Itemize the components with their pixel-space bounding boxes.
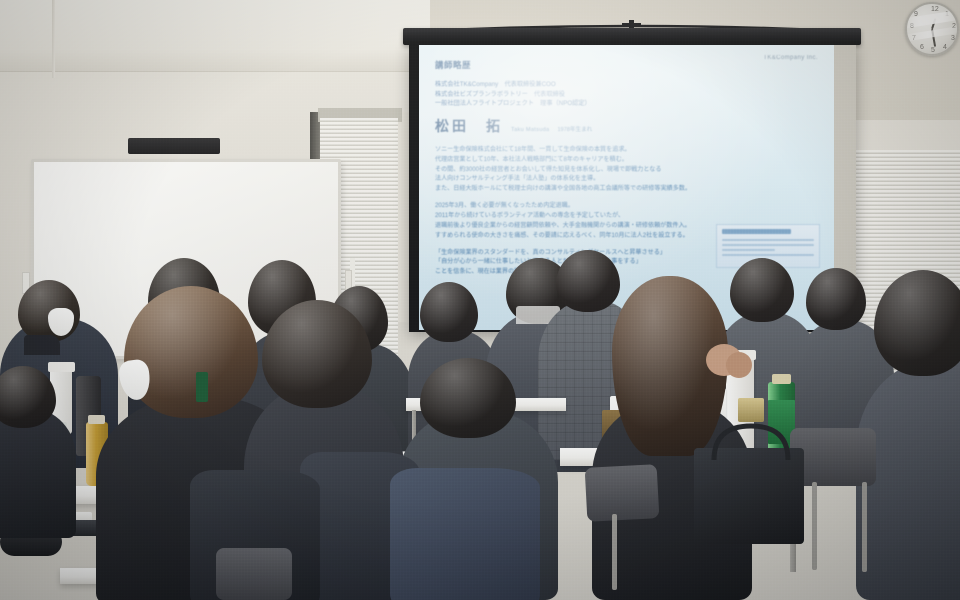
slide-affiliation-line: 株式会社ビズプランラボラトリー 代表取締役 [435,90,820,100]
slide-affiliation-line: 株式会社TK&Company 代表取締役兼COO [435,80,820,90]
slide-title: 講師略歴 [435,59,820,71]
snack-package [738,398,764,422]
chair-leg [612,514,617,590]
shirt-collar [24,335,60,355]
clasped-hands [726,352,752,378]
clock-numeral: 4 [943,44,947,51]
slide-affiliation-line: 一般社団法人フライトプロジェクト 理事（NPO認定） [435,99,820,109]
conference-chair [585,464,660,522]
clock-numeral: 5 [931,47,935,54]
slide-paragraph: ソニー生命保険株式会社にて18年間、一貫して生命保険の本質を追求。 代理店営業と… [435,145,820,194]
bottle-cap [88,415,105,424]
clock-numeral: 6 [920,44,924,51]
thumbnail-text-line [722,249,775,251]
handbag [694,424,804,544]
ceiling-soffit [0,0,430,72]
bottle-cap [772,374,791,384]
lanyard [196,372,208,402]
chair-leg [812,482,817,570]
seminar-room-photo: 12 1 2 3 4 5 6 7 8 9 TK&Company Inc. 講師略 [0,0,960,600]
thumbnail-text-line [722,239,814,241]
chair-leg [862,482,867,572]
coat-over-chair [390,468,540,600]
wall-corner-edge [52,0,55,78]
thumbnail-header-bar [722,229,791,234]
slide-speaker-name-ja: 松田 拓 [435,116,503,136]
slide-speaker-birth-year: 1978年生まれ [557,125,592,133]
wall-clock: 12 1 2 3 4 5 6 7 8 9 [905,2,959,56]
thumbnail-text-line [722,254,814,256]
clock-numeral: 12 [931,6,939,13]
conference-chair [216,548,292,600]
thermos-cap [48,362,75,372]
slide-brand-mark: TK&Company Inc. [763,55,818,61]
slide-speaker-name-romaji: Taku Matsuda [511,127,549,133]
slide-speaker-name-row: 松田 拓 Taku Matsuda 1978年生まれ [435,116,820,136]
thumbnail-text-line [722,244,814,246]
whiteboard-top-object [128,138,220,154]
clock-numeral: 3 [951,35,955,42]
